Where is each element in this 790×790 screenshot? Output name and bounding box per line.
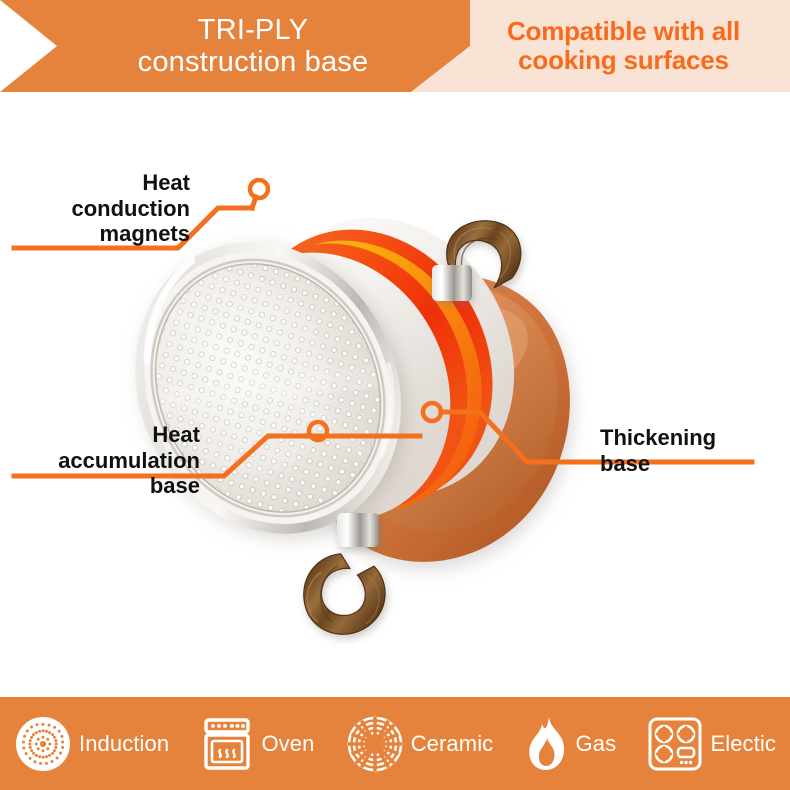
header-banner-group: TRI-PLY construction base Compatible wit… [0, 0, 790, 92]
callout-thickening-base: Thickening base [600, 425, 780, 476]
feature-gas-label: Gas [576, 731, 617, 757]
feature-ceramic: Ceramic [346, 715, 494, 773]
cooking-surface-compatibility-bar: Induction [0, 697, 790, 790]
feature-ceramic-label: Ceramic [411, 731, 494, 757]
callout-magnets-line3: magnets [100, 221, 190, 246]
oven-icon [200, 716, 254, 772]
callout-thick-line2: base [600, 451, 650, 476]
bottom-wood-handle [301, 513, 388, 637]
feature-gas: Gas [525, 715, 617, 773]
feature-electric-label: Electic [710, 731, 776, 757]
induction-icon [14, 715, 72, 773]
callout-magnets-line2: conduction [71, 196, 190, 221]
feature-electric: Electic [647, 716, 776, 772]
feature-induction: Induction [14, 715, 169, 773]
electric-stovetop-icon [647, 716, 703, 772]
feature-oven-label: Oven [261, 731, 314, 757]
top-handle-ferrule [432, 265, 472, 301]
callout-heat-accumulation-base: Heat accumulation base [10, 422, 200, 499]
ceramic-icon [346, 715, 404, 773]
feature-induction-label: Induction [79, 731, 169, 757]
tri-ply-banner-text: TRI-PLY construction base [102, 14, 369, 79]
callout-accum-line2: accumulation [58, 448, 200, 473]
infographic-canvas: TRI-PLY construction base Compatible wit… [0, 0, 790, 790]
tri-ply-banner: TRI-PLY construction base [0, 0, 470, 92]
callout-thick-line1: Thickening [600, 425, 716, 450]
tri-ply-banner-line2: construction base [138, 46, 369, 78]
callout-accum-line3: base [150, 473, 200, 498]
callout-accum-line1: Heat [152, 422, 200, 447]
callout-magnets-line1: Heat [142, 170, 190, 195]
bottom-handle-ferrule [337, 513, 379, 547]
compatibility-banner-line2: cooking surfaces [518, 45, 729, 75]
compatibility-banner-line1: Compatible with all [507, 16, 740, 46]
feature-oven: Oven [200, 716, 314, 772]
compatibility-banner-text: Compatible with all cooking surfaces [461, 17, 740, 75]
callout-heat-conduction-magnets: Heat conduction magnets [10, 170, 190, 247]
tri-ply-banner-line1: TRI-PLY [198, 14, 308, 46]
gas-flame-icon [525, 715, 569, 773]
